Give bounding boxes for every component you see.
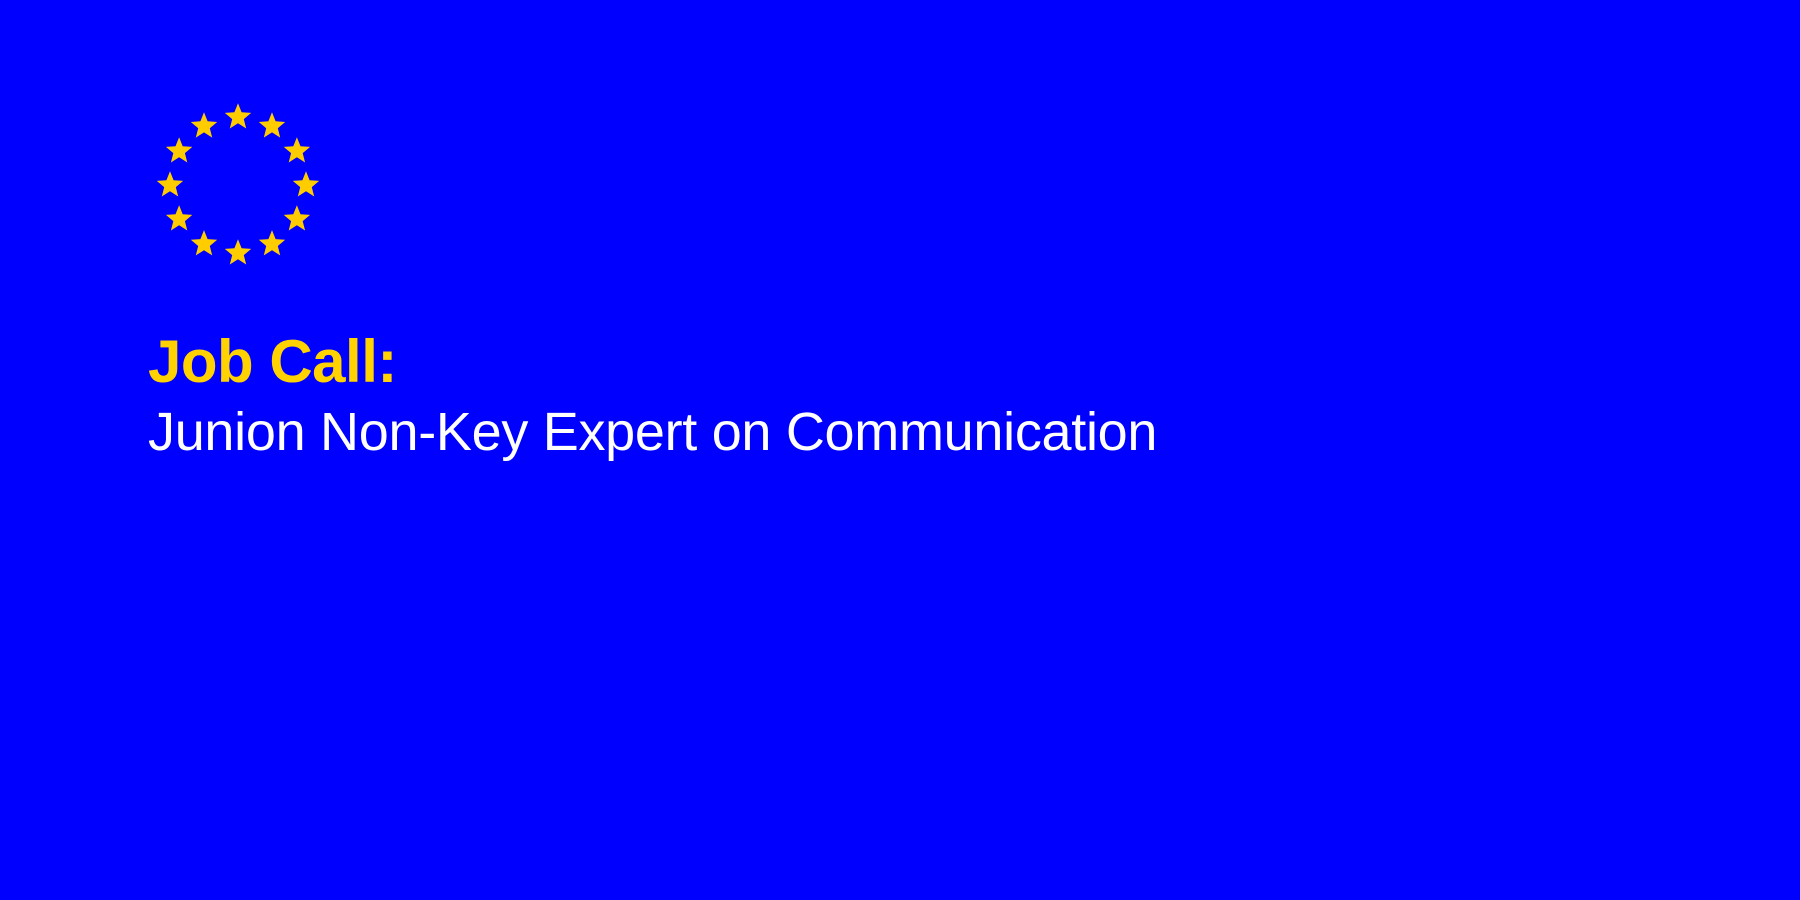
page-title: Job Call: bbox=[148, 330, 1648, 395]
eu-star-icon bbox=[188, 110, 220, 142]
eu-star-icon bbox=[290, 169, 322, 201]
page-subtitle: Junion Non-Key Expert on Communication bbox=[148, 403, 1648, 462]
eu-star-icon bbox=[256, 228, 288, 260]
job-call-banner: Job Call: Junion Non-Key Expert on Commu… bbox=[0, 0, 1800, 900]
eu-star-icon bbox=[281, 135, 313, 167]
headline-block: Job Call: Junion Non-Key Expert on Commu… bbox=[148, 330, 1648, 462]
european-union-flag-stars-icon bbox=[150, 97, 326, 273]
eu-star-icon bbox=[222, 101, 254, 133]
eu-star-icon bbox=[154, 169, 186, 201]
eu-star-icon bbox=[163, 203, 195, 235]
eu-star-icon bbox=[222, 237, 254, 269]
